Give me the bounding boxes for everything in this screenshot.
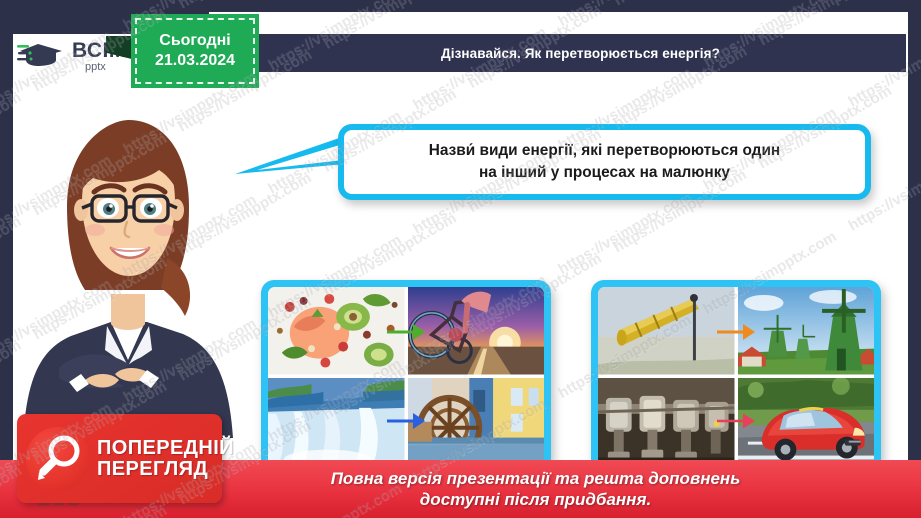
preview-badge[interactable]: ПОПЕРЕДНІЙ ПЕРЕГЛЯД xyxy=(17,414,222,503)
preview-badge-text: ПОПЕРЕДНІЙ ПЕРЕГЛЯД xyxy=(97,438,234,479)
panel-left-grid xyxy=(268,287,544,465)
preview-badge-line-2: ПЕРЕГЛЯД xyxy=(97,459,234,479)
teacher-character-illustration xyxy=(19,98,237,438)
logo-subtitle: pptx xyxy=(85,62,127,73)
bubble-line-1: Назви́ види енергії, які перетворюються … xyxy=(429,142,780,159)
date-tag: Сьогодні 21.03.2024 xyxy=(131,14,259,88)
speech-bubble-tail xyxy=(235,130,350,190)
magnifier-icon xyxy=(26,427,90,491)
date-tag-label: Сьогодні xyxy=(159,31,230,51)
header-title-bar: Дізнавайся. Як перетворюється енергія? xyxy=(253,32,908,74)
blue-arrow xyxy=(383,408,429,434)
speech-bubble: Назви́ види енергії, які перетворюються … xyxy=(338,124,871,200)
green-arrow xyxy=(383,319,429,345)
bubble-line-2: на інший у процесах на малюнку xyxy=(479,164,730,181)
promo-line-1: Повна версія презентації та решта доповн… xyxy=(331,469,741,488)
date-tag-value: 21.03.2024 xyxy=(155,51,235,71)
preview-badge-line-1: ПОПЕРЕДНІЙ xyxy=(97,438,234,458)
image-panel-right xyxy=(591,280,881,472)
image-panel-left xyxy=(261,280,551,472)
promo-line-2: доступні після придбання. xyxy=(420,490,651,509)
panel-right-grid xyxy=(598,287,874,465)
graduation-cap-icon xyxy=(16,39,68,73)
page-title: Дізнавайся. Як перетворюється енергія? xyxy=(441,46,720,61)
pink-arrow xyxy=(713,408,759,434)
orange-arrow xyxy=(713,319,759,345)
slide-root: ВСІМ pptx Сьогодні 21.03.2024 Дізнавайся… xyxy=(0,0,921,518)
